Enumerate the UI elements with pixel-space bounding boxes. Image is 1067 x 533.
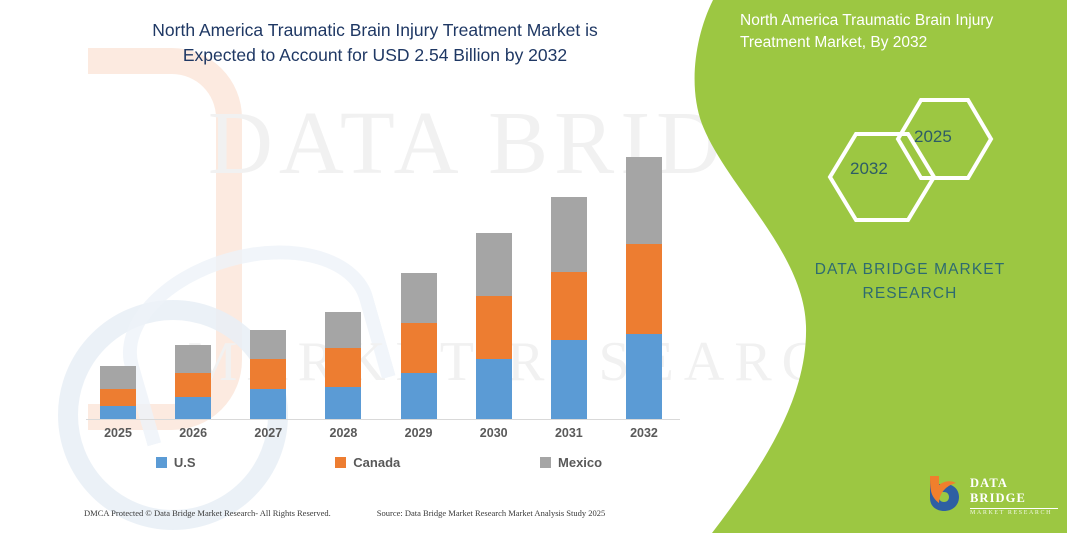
bar-segment-mexico-2029 [401,273,437,323]
x-axis-label-2029: 2029 [401,426,437,440]
bar-segment-us-2027 [250,389,286,419]
chart-bars [100,140,662,419]
panel-brand-line-2: RESEARCH [780,282,1040,306]
chart-x-axis-line [86,419,680,420]
chart-legend: U.SCanadaMexico [86,455,672,470]
dbmr-logo-name: DATA BRIDGE [970,476,1062,506]
bar-segment-canada-2029 [401,323,437,373]
legend-swatch-icon [540,457,551,468]
infographic-root: DATA BRIDGE MARKET RESEARCH North Americ… [0,0,1067,533]
legend-label: Mexico [558,455,602,470]
green-panel-content: North America Traumatic Brain Injury Tre… [640,0,1067,533]
legend-swatch-icon [335,457,346,468]
bar-column-2029 [401,140,437,419]
footer-dmca-text: DMCA Protected © Data Bridge Market Rese… [84,508,331,518]
bar-column-2031 [551,140,587,419]
hexagon-2025-label: 2025 [914,127,952,147]
legend-item-canada[interactable]: Canada [335,455,400,470]
x-axis-label-2026: 2026 [175,426,211,440]
bar-segment-us-2030 [476,359,512,419]
chart-plot-area [86,140,672,420]
bar-segment-canada-2027 [250,359,286,389]
bar-segment-mexico-2025 [100,366,136,389]
bar-column-2027 [250,140,286,419]
bar-segment-mexico-2026 [175,345,211,373]
bar-segment-canada-2031 [551,272,587,340]
panel-brand-line-1: DATA BRIDGE MARKET [780,258,1040,282]
bar-column-2025 [100,140,136,419]
chart-x-axis-labels: 20252026202720282029203020312032 [100,426,662,440]
hexagon-2032-label: 2032 [850,159,888,179]
bar-segment-canada-2025 [100,389,136,406]
page-title-line-2: Expected to Account for USD 2.54 Billion… [60,43,690,68]
bar-segment-us-2025 [100,406,136,419]
x-axis-label-2027: 2027 [250,426,286,440]
x-axis-label-2031: 2031 [551,426,587,440]
bar-column-2030 [476,140,512,419]
panel-brand-text: DATA BRIDGE MARKET RESEARCH [780,258,1040,306]
bar-column-2026 [175,140,211,419]
dbmr-logo: DATA BRIDGE MARKET RESEARCH [922,472,1062,518]
legend-label: U.S [174,455,196,470]
bar-segment-canada-2028 [325,348,361,387]
x-axis-label-2028: 2028 [325,426,361,440]
bar-segment-mexico-2027 [250,330,286,359]
bar-segment-canada-2030 [476,296,512,359]
bar-segment-mexico-2030 [476,233,512,296]
bar-segment-mexico-2031 [551,197,587,272]
bar-segment-us-2026 [175,397,211,419]
bar-segment-mexico-2028 [325,312,361,348]
x-axis-label-2030: 2030 [476,426,512,440]
page-title-line-1: North America Traumatic Brain Injury Tre… [60,18,690,43]
bar-segment-us-2031 [551,340,587,419]
dbmr-logo-subtitle: MARKET RESEARCH [970,510,1062,516]
bar-segment-us-2029 [401,373,437,419]
bar-segment-canada-2026 [175,373,211,397]
page-title: North America Traumatic Brain Injury Tre… [60,18,690,69]
stacked-bar-chart: 20252026202720282029203020312032 [86,140,672,420]
dbmr-logo-mark [922,472,966,516]
footer: DMCA Protected © Data Bridge Market Rese… [84,508,684,518]
legend-item-us[interactable]: U.S [156,455,196,470]
footer-source-text: Source: Data Bridge Market Research Mark… [377,508,606,518]
legend-item-mexico[interactable]: Mexico [540,455,602,470]
dbmr-logo-text: DATA BRIDGE MARKET RESEARCH [970,476,1062,516]
legend-label: Canada [353,455,400,470]
dbmr-logo-rule [970,508,1058,509]
x-axis-label-2025: 2025 [100,426,136,440]
bar-column-2028 [325,140,361,419]
bar-segment-us-2028 [325,387,361,419]
legend-swatch-icon [156,457,167,468]
